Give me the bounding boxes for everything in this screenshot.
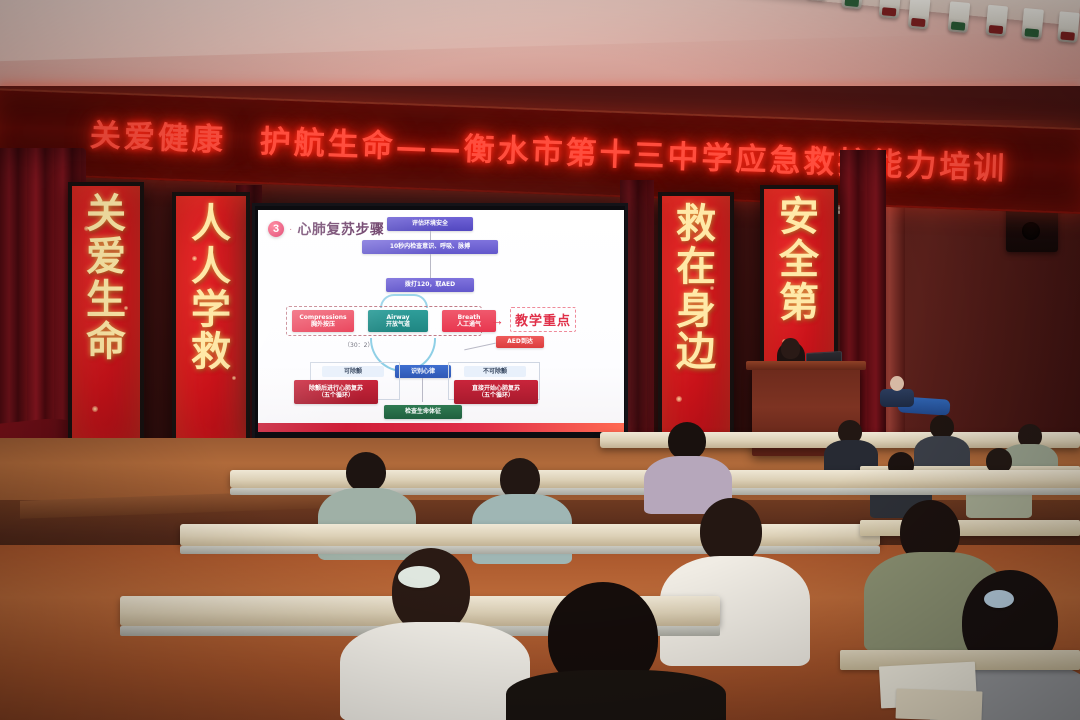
connector bbox=[430, 231, 431, 240]
branch-action-shockable: 除颤后进行心肺复苏 （五个循环） bbox=[294, 380, 378, 404]
banner-char: 救 bbox=[676, 204, 716, 245]
stage-light-rail bbox=[611, 0, 1080, 26]
banner-char: 第 bbox=[779, 283, 819, 324]
cpr-manikin-head bbox=[890, 376, 904, 391]
banner-char: 救 bbox=[191, 332, 231, 373]
cab-cn-label: 人工通气 bbox=[457, 321, 481, 328]
banner-char: 学 bbox=[191, 290, 231, 331]
cpr-manikin-body bbox=[880, 389, 914, 407]
flow-step-vitals: 检查生命体征 bbox=[384, 405, 462, 419]
presentation-slide: 3 · 心肺复苏步骤 评估环境安全 10秒内检查意识、呼吸、脉搏 拨打120，取… bbox=[258, 210, 624, 432]
branch-label-shockable: 可除颤 bbox=[322, 366, 384, 377]
connector bbox=[430, 254, 431, 278]
slide-accent-bar bbox=[258, 423, 624, 432]
banner-char: 人 bbox=[191, 204, 231, 245]
cab-en-label: Compressions bbox=[299, 314, 346, 321]
handout-paper bbox=[896, 689, 983, 720]
vertical-banner-right-1: 救 在 身 边 bbox=[658, 192, 734, 462]
connector bbox=[464, 343, 496, 351]
projection-screen: 3 · 心肺复苏步骤 评估环境安全 10秒内检查意识、呼吸、脉搏 拨打120，取… bbox=[252, 203, 628, 441]
flow-box-airway: Airway 开放气道 bbox=[368, 310, 428, 332]
banner-char: 全 bbox=[779, 240, 819, 281]
connector bbox=[422, 378, 423, 402]
flow-box-rhythm: 识别心律 bbox=[395, 365, 451, 378]
slide-header: 3 · 心肺复苏步骤 bbox=[268, 219, 384, 239]
flow-step-check: 10秒内检查意识、呼吸、脉搏 bbox=[362, 240, 498, 254]
vertical-banner-left-2: 人 人 学 救 bbox=[172, 192, 250, 464]
teaching-focus-callout: 教学重点 bbox=[510, 307, 576, 332]
title-separator: · bbox=[289, 224, 292, 235]
banner-char: 人 bbox=[191, 247, 231, 288]
flow-box-breath: Breath 人工通气 bbox=[442, 310, 496, 332]
presenter-head bbox=[781, 338, 800, 359]
vertical-banner-left-1: 关 爱 生 命 bbox=[68, 182, 144, 462]
slide-title: 心肺复苏步骤 bbox=[297, 219, 384, 239]
banner-char: 边 bbox=[676, 332, 716, 373]
arrow-icon: → bbox=[490, 313, 504, 327]
cab-cn-label: 胸外按压 bbox=[311, 321, 335, 328]
auditorium-photo: 关爱健康 护航生命——衡水市第十三中学应急救护能力培训 关 爱 生 命 人 人 … bbox=[0, 0, 1080, 720]
banner-char: 生 bbox=[86, 280, 126, 321]
flow-step-call: 拨打120，取AED bbox=[386, 278, 474, 292]
banner-char: 在 bbox=[676, 247, 716, 288]
banner-char: 命 bbox=[86, 322, 126, 363]
flow-box-compressions: Compressions 胸外按压 bbox=[292, 310, 354, 332]
branch-label-non-shockable: 不可除颤 bbox=[464, 366, 526, 377]
bench-row-2 bbox=[180, 524, 880, 546]
flow-box-aed-arrival: AED到达 bbox=[496, 336, 544, 348]
cab-en-label: Breath bbox=[458, 314, 481, 321]
desk-row-2 bbox=[860, 520, 1080, 536]
compression-ratio-label: （30：2） bbox=[344, 340, 373, 349]
banner-char: 爱 bbox=[86, 237, 126, 278]
flow-step-assess: 评估环境安全 bbox=[387, 217, 473, 231]
branch-action-non-shockable: 直接开始心肺复苏 （五个循环） bbox=[454, 380, 538, 404]
hair-scrunchie bbox=[398, 566, 440, 588]
cab-en-label: Airway bbox=[387, 314, 410, 321]
cab-cn-label: 开放气道 bbox=[386, 321, 410, 328]
slide-number-badge: 3 bbox=[268, 221, 284, 237]
banner-char: 身 bbox=[676, 290, 716, 331]
bench-rail-2 bbox=[180, 546, 880, 554]
banner-char: 安 bbox=[779, 197, 819, 238]
podium-top bbox=[746, 361, 866, 370]
banner-char: 关 bbox=[86, 194, 126, 235]
hair-scrunchie bbox=[984, 590, 1014, 608]
